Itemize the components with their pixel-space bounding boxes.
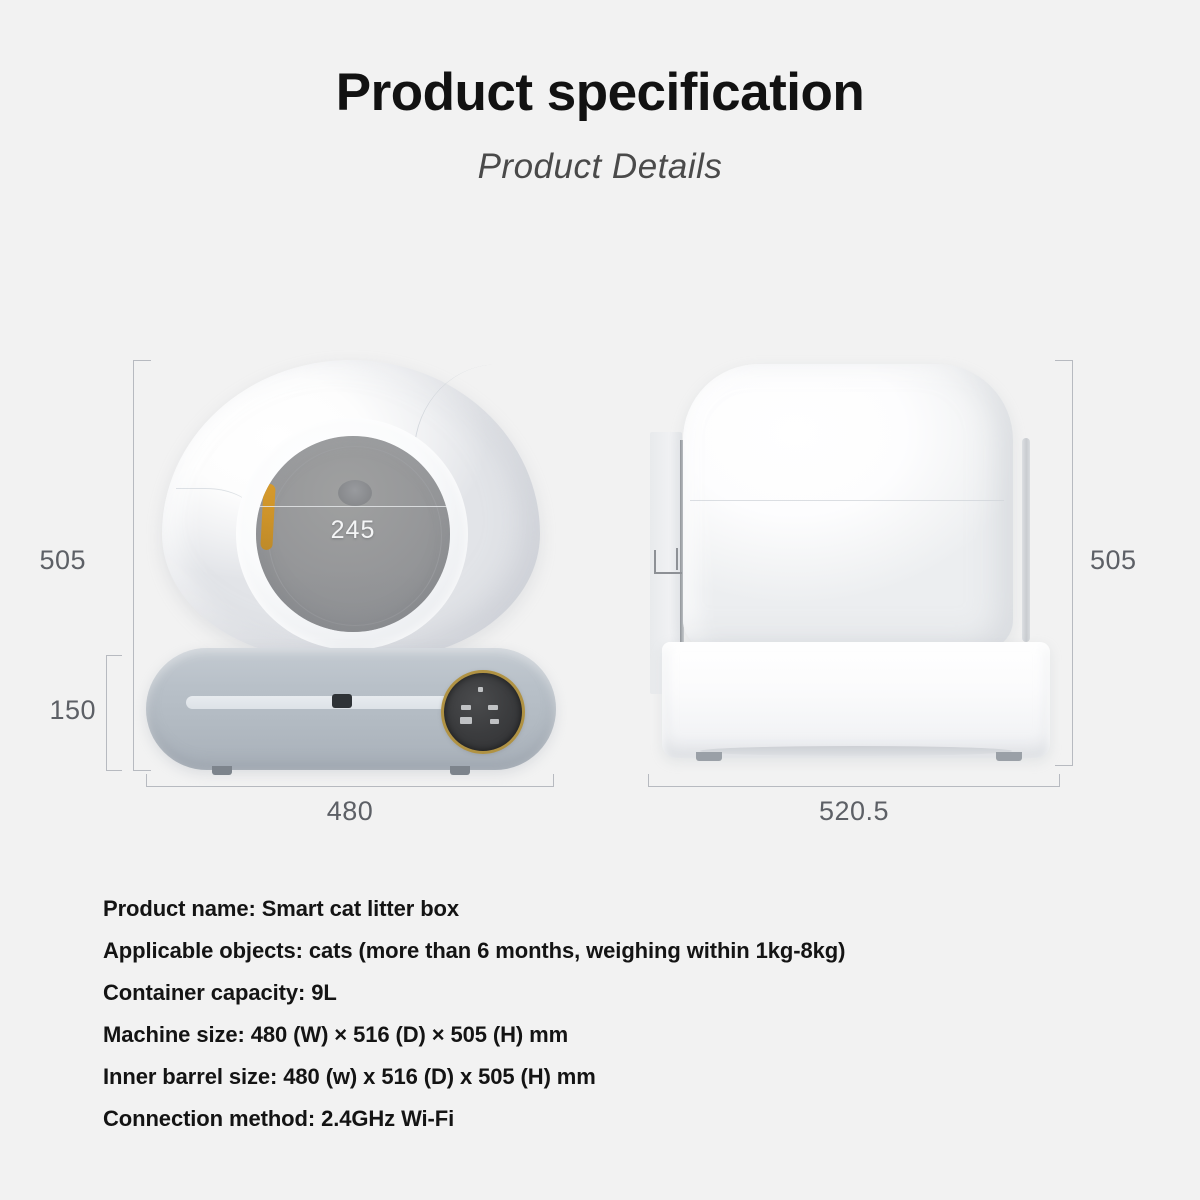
spec-item-applicable-objects: Applicable objects: cats (more than 6 mo… <box>103 930 1003 972</box>
front-height-dimension-line <box>133 360 134 770</box>
display-dot-2 <box>461 705 471 710</box>
front-base-height-label: 150 <box>49 695 96 726</box>
side-view-illustration <box>650 360 1070 770</box>
side-height-label: 505 <box>1090 545 1137 576</box>
spec-item-inner-barrel-size: Inner barrel size: 480 (w) x 516 (D) x 5… <box>103 1056 1003 1098</box>
front-foot-left <box>212 766 232 775</box>
front-width-label: 480 <box>146 796 554 827</box>
front-inner-shadow <box>262 570 444 632</box>
control-display-panel <box>441 670 525 754</box>
front-base-height-tick-top <box>106 655 122 656</box>
side-width-label: 520.5 <box>648 796 1060 827</box>
side-height-dimension-line <box>1072 360 1073 765</box>
display-dot-1 <box>478 687 483 692</box>
front-width-dimension-line <box>146 786 554 787</box>
front-width-tick-right <box>553 774 554 787</box>
side-base-drawer <box>662 642 1050 758</box>
front-opening-interior: 245 <box>256 436 450 632</box>
front-base-height-dimension-line <box>106 655 107 770</box>
side-right-strip <box>1022 438 1030 642</box>
front-base-height-tick-bottom <box>106 770 122 771</box>
spec-item-container-capacity: Container capacity: 9L <box>103 972 1003 1014</box>
front-width-tick-left <box>146 774 147 787</box>
side-corner-marker-tick <box>676 548 678 570</box>
sensor-icon <box>332 694 352 708</box>
side-width-tick-left <box>648 774 649 787</box>
display-dot-3 <box>488 705 498 710</box>
spec-item-machine-size: Machine size: 480 (W) × 516 (D) × 505 (H… <box>103 1014 1003 1056</box>
side-foot-left <box>696 752 722 761</box>
front-view-illustration: 245 <box>146 360 556 772</box>
product-dimension-diagram: 505 150 480 505 520.5 245 <box>0 0 1200 860</box>
spec-item-connection-method: Connection method: 2.4GHz Wi-Fi <box>103 1098 1003 1140</box>
side-dome-seam <box>690 500 1004 501</box>
front-foot-right <box>450 766 470 775</box>
front-height-label: 505 <box>39 545 86 576</box>
display-dot-5 <box>490 719 499 724</box>
side-width-dimension-line <box>648 786 1060 787</box>
inner-hub <box>338 480 372 506</box>
opening-width-label: 245 <box>256 516 450 545</box>
opening-width-dimension-line <box>256 506 450 507</box>
side-drawer-shadow <box>700 746 1012 756</box>
side-dome-shell <box>683 364 1013 650</box>
front-base-drawer <box>146 648 556 770</box>
side-foot-right <box>996 752 1022 761</box>
spec-item-product-name: Product name: Smart cat litter box <box>103 888 1003 930</box>
display-dot-4 <box>460 717 472 724</box>
side-width-tick-right <box>1059 774 1060 787</box>
specification-list: Product name: Smart cat litter box Appli… <box>103 888 1003 1140</box>
